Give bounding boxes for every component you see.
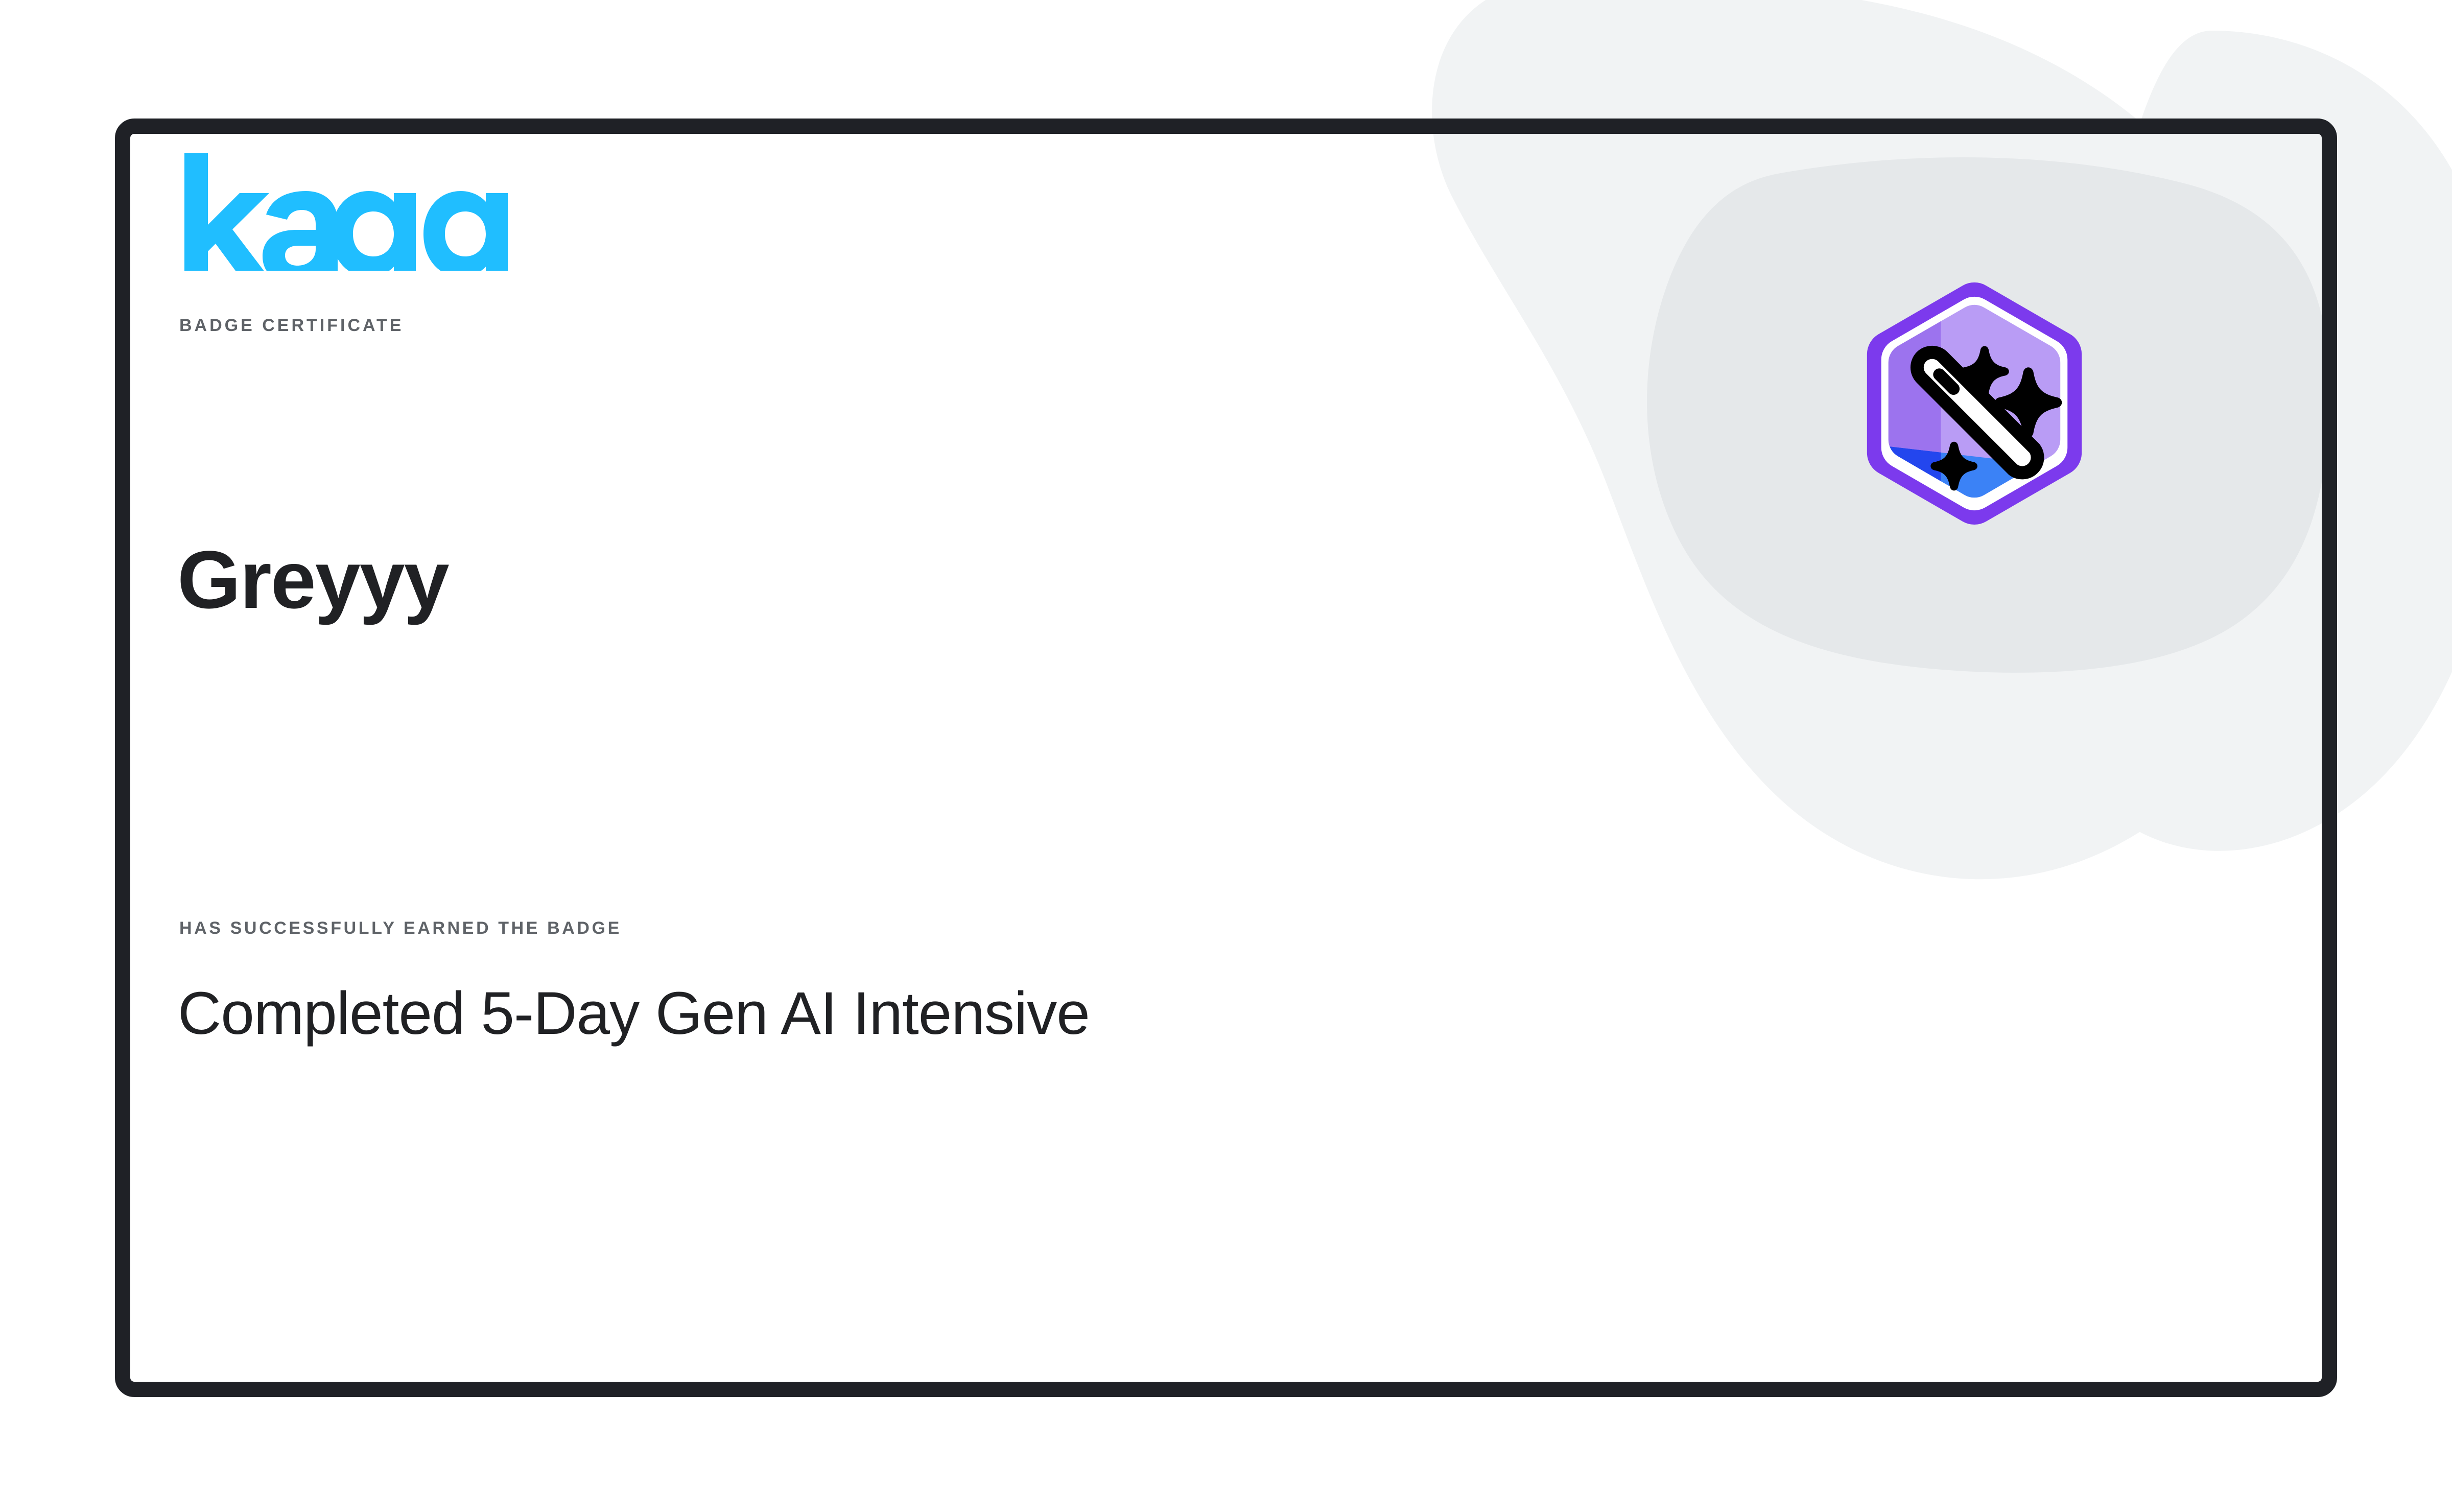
recipient-name: Greyyy (177, 539, 449, 621)
eyebrow-label: BADGE CERTIFICATE (179, 317, 404, 334)
badge-title: Completed 5-Day Gen AI Intensive (178, 973, 1090, 1054)
magic-wand-sparkles-hexagon-badge-icon (1844, 273, 2105, 534)
certificate-content: BADGE CERTIFICATE Greyyy HAS SUCCESSFULL… (179, 0, 1916, 1512)
kaggle-logo (179, 153, 516, 271)
earned-label: HAS SUCCESSFULLY EARNED THE BADGE (179, 919, 622, 937)
certificate-canvas: BADGE CERTIFICATE Greyyy HAS SUCCESSFULL… (0, 0, 2452, 1512)
